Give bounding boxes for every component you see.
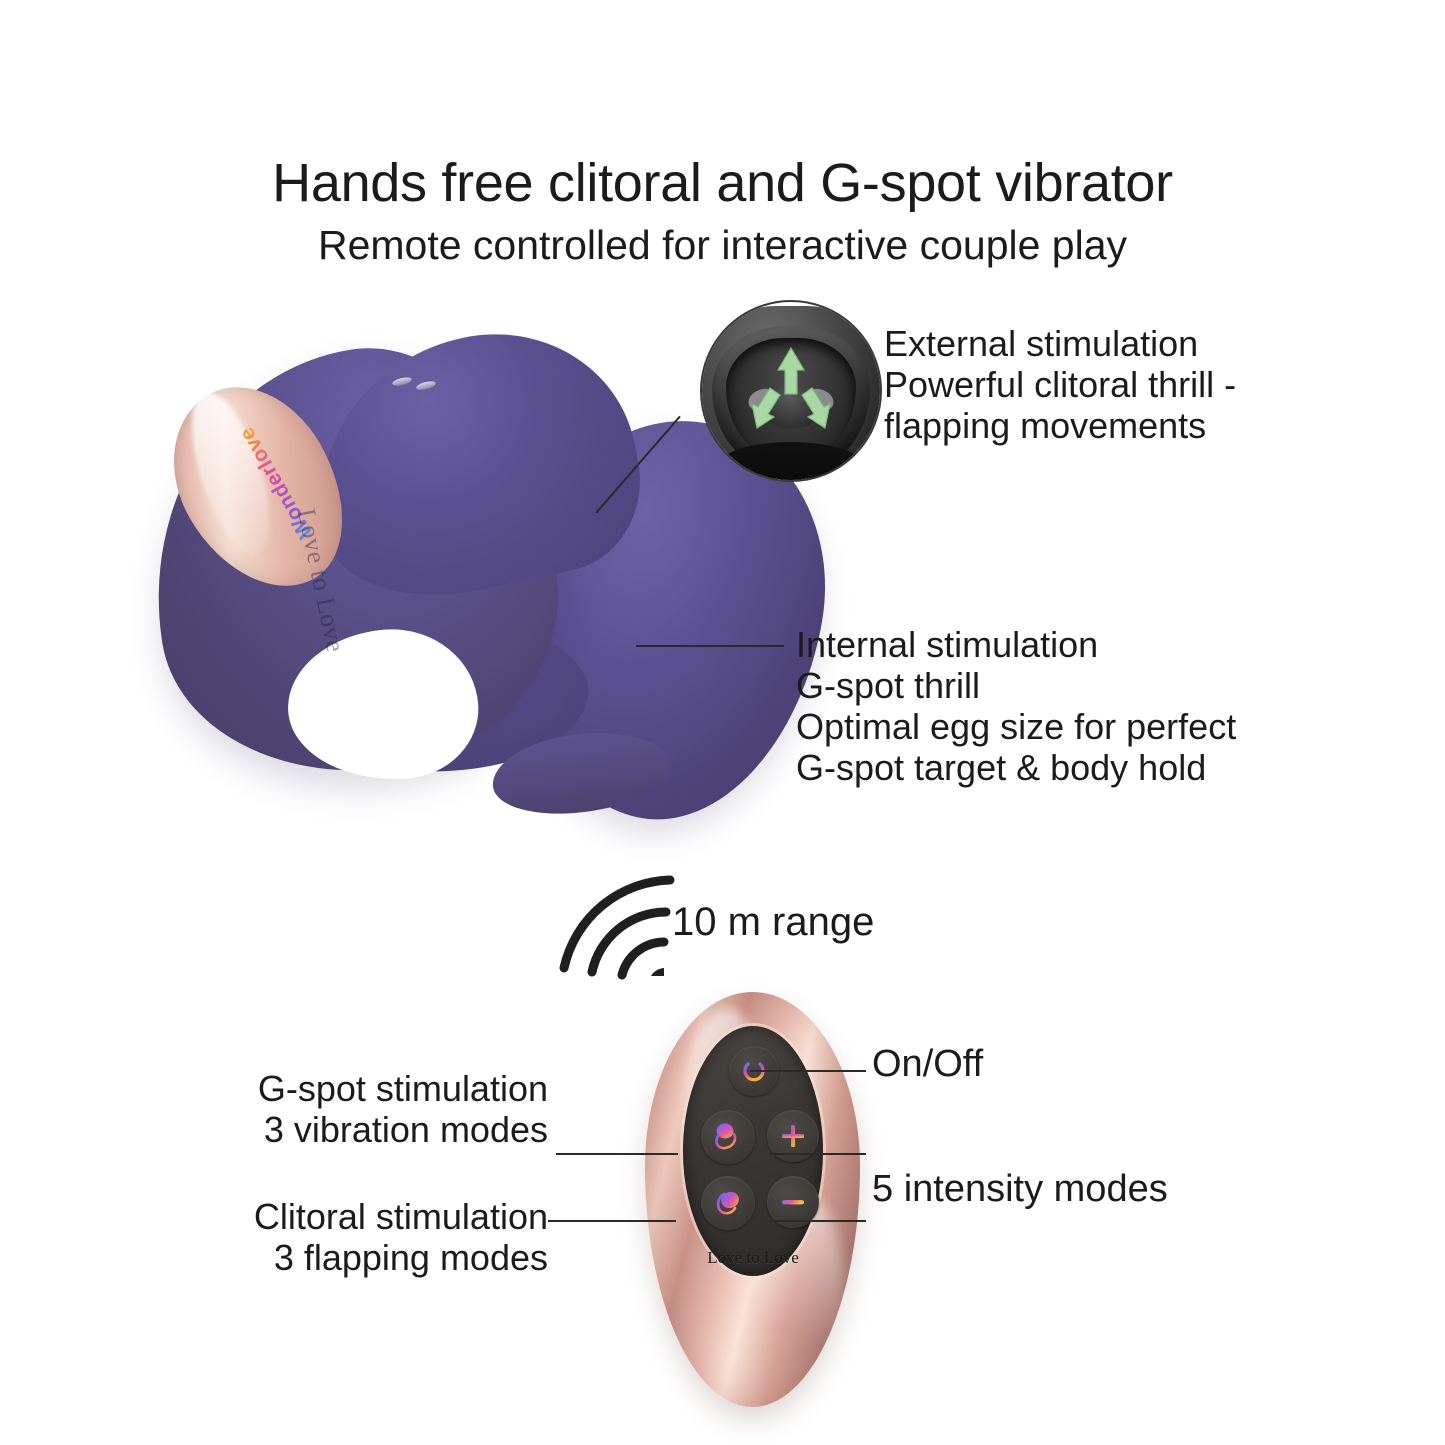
callout-internal-line-1: Internal stimulation <box>796 624 1236 665</box>
clitoral-flapping-icon <box>711 1187 745 1219</box>
callout-internal-stimulation: Internal stimulation G-spot thrill Optim… <box>796 624 1236 788</box>
leader-line-gspot <box>556 1153 678 1155</box>
plus-icon <box>779 1122 807 1150</box>
remote-button-panel: Love to Love <box>683 1026 823 1276</box>
leader-line-clitoral <box>548 1220 676 1222</box>
wifi-signal-icon <box>552 872 682 982</box>
callout-external-line-1: External stimulation <box>884 323 1236 364</box>
gspot-button[interactable] <box>701 1110 755 1164</box>
callout-external-line-2: Powerful clitoral thrill - <box>884 364 1236 405</box>
page-subtitle: Remote controlled for interactive couple… <box>0 222 1445 269</box>
remote-control[interactable]: Love to Love <box>645 992 860 1407</box>
minus-icon <box>779 1188 807 1216</box>
label-on-off: On/Off <box>872 1043 983 1086</box>
callout-external-line-3: flapping movements <box>884 405 1236 446</box>
callout-external-stimulation: External stimulation Powerful clitoral t… <box>884 323 1236 446</box>
infographic-canvas: Hands free clitoral and G-spot vibrator … <box>0 0 1445 1445</box>
label-intensity-modes: 5 intensity modes <box>872 1168 1168 1211</box>
label-clitoral-stimulation: Clitoral stimulation 3 flapping modes <box>218 1196 548 1278</box>
range-label: 10 m range <box>672 900 874 946</box>
flapping-motion-arrows-icon <box>702 302 880 480</box>
leader-line-intensity-plus <box>770 1153 866 1155</box>
label-gspot-stimulation: G-spot stimulation 3 vibration modes <box>228 1068 548 1150</box>
leader-line-onoff <box>750 1070 866 1072</box>
remote-brand-text: Love to Love <box>683 1248 823 1268</box>
gspot-vibration-icon <box>711 1121 745 1153</box>
label-gspot-line-2: 3 vibration modes <box>228 1109 548 1150</box>
callout-internal-line-4: G-spot target & body hold <box>796 747 1236 788</box>
callout-internal-line-3: Optimal egg size for perfect <box>796 706 1236 747</box>
label-gspot-line-1: G-spot stimulation <box>228 1068 548 1109</box>
external-stimulation-zoom-circle <box>700 300 882 482</box>
leader-line-internal <box>636 645 784 647</box>
label-clitoral-line-2: 3 flapping modes <box>218 1237 548 1278</box>
leader-line-intensity-minus <box>772 1220 866 1222</box>
callout-internal-line-2: G-spot thrill <box>796 665 1236 706</box>
page-title: Hands free clitoral and G-spot vibrator <box>0 152 1445 214</box>
clitoral-button[interactable] <box>701 1176 755 1230</box>
label-clitoral-line-1: Clitoral stimulation <box>218 1196 548 1237</box>
